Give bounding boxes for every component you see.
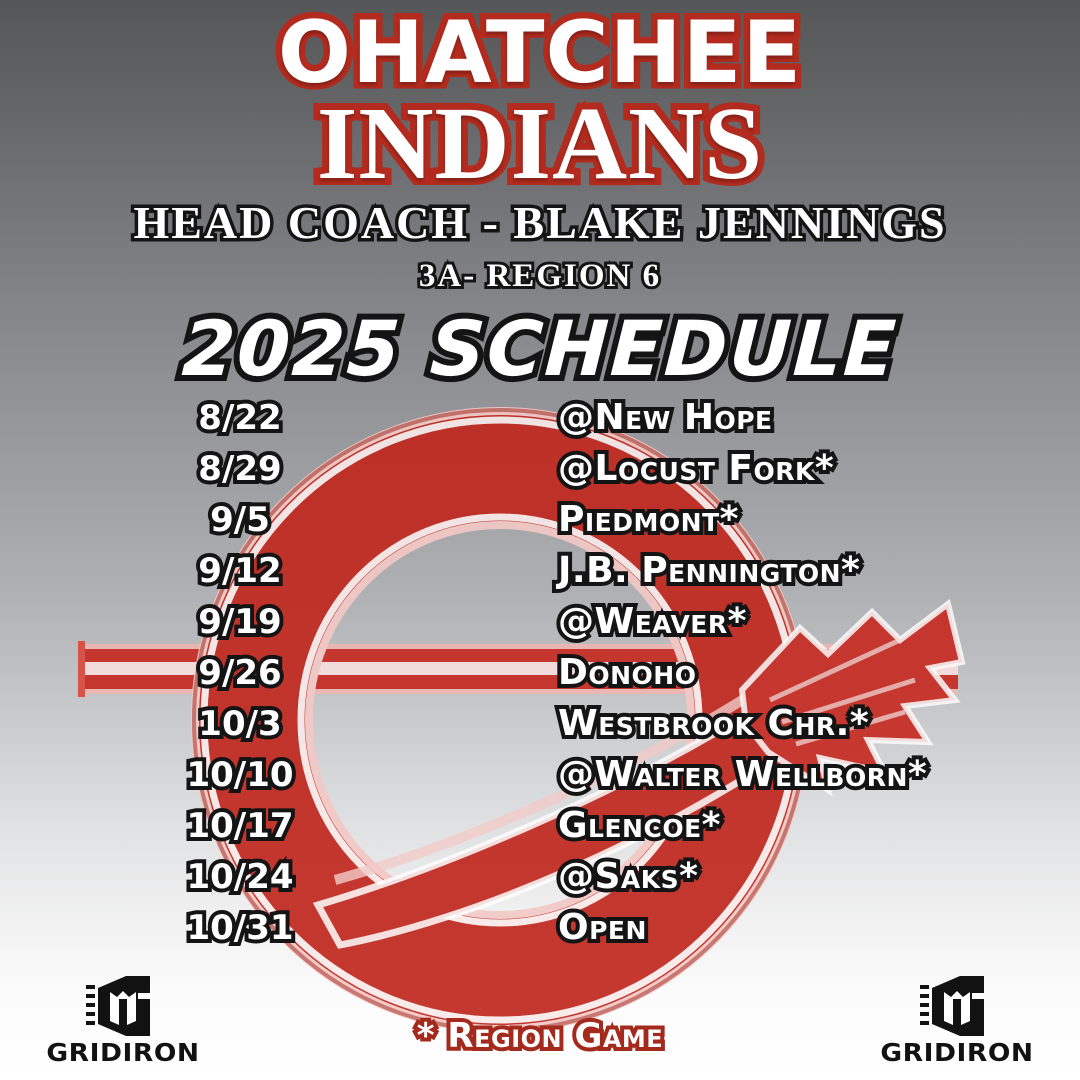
game-opponent: J.B. Pennington* <box>558 550 860 592</box>
schedule-row: 8/29@Locust Fork* <box>0 443 1080 494</box>
game-opponent: Open <box>558 907 647 949</box>
game-opponent: @Locust Fork* <box>558 448 834 490</box>
schedule-row: 9/26Donoho <box>0 647 1080 698</box>
schedule-row: 10/10@Walter Wellborn* <box>0 749 1080 800</box>
game-opponent: Glencoe* <box>558 805 721 847</box>
game-date: 9/19 <box>140 602 340 642</box>
game-opponent: @Walter Wellborn* <box>558 754 927 796</box>
team-mascot-name: INDIANS <box>0 88 1080 200</box>
game-date: 10/3 <box>140 704 340 744</box>
schedule-row: 9/12J.B. Pennington* <box>0 545 1080 596</box>
schedule-row: 10/17Glencoe* <box>0 800 1080 851</box>
schedule-row: 10/24@Saks* <box>0 851 1080 902</box>
game-date: 9/26 <box>140 653 340 693</box>
game-opponent: @Saks* <box>558 856 698 898</box>
page-title: 2025 SCHEDULE <box>0 305 1080 393</box>
schedule-row: 10/31Open <box>0 902 1080 953</box>
game-opponent: Westbrook Chr.* <box>558 703 869 745</box>
game-date: 8/22 <box>140 398 340 438</box>
schedule-row: 8/22@New Hope <box>0 392 1080 443</box>
classification-label: 3A- REGION 6 <box>0 256 1080 296</box>
gridiron-shield-icon <box>920 975 994 1037</box>
game-date: 10/17 <box>140 806 340 846</box>
game-date: 10/10 <box>140 755 340 795</box>
schedule-row: 10/3Westbrook Chr.* <box>0 698 1080 749</box>
game-date: 10/24 <box>140 857 340 897</box>
gridiron-wordmark-right: GRIDIRON <box>878 1039 1037 1066</box>
game-date: 10/31 <box>140 908 340 948</box>
gridiron-logo-right: GRIDIRON <box>882 975 1032 1066</box>
head-coach-label: HEAD COACH - BLAKE JENNINGS <box>0 196 1080 250</box>
game-opponent: @Weaver* <box>558 601 747 643</box>
game-opponent: Donoho <box>558 652 697 694</box>
game-opponent: @New Hope <box>558 397 773 439</box>
schedule-row: 9/19@Weaver* <box>0 596 1080 647</box>
schedule-poster: OHATCHEE INDIANS HEAD COACH - BLAKE JENN… <box>0 0 1080 1080</box>
game-opponent: Piedmont* <box>558 499 739 541</box>
schedule-row: 9/5Piedmont* <box>0 494 1080 545</box>
game-date: 9/5 <box>140 500 340 540</box>
gridiron-logo-left: GRIDIRON <box>48 975 198 1066</box>
game-date: 9/12 <box>140 551 340 591</box>
gridiron-shield-icon <box>86 975 160 1037</box>
schedule-list: 8/22@New Hope8/29@Locust Fork*9/5Piedmon… <box>0 392 1080 953</box>
gridiron-wordmark-left: GRIDIRON <box>44 1039 203 1066</box>
game-date: 8/29 <box>140 449 340 489</box>
